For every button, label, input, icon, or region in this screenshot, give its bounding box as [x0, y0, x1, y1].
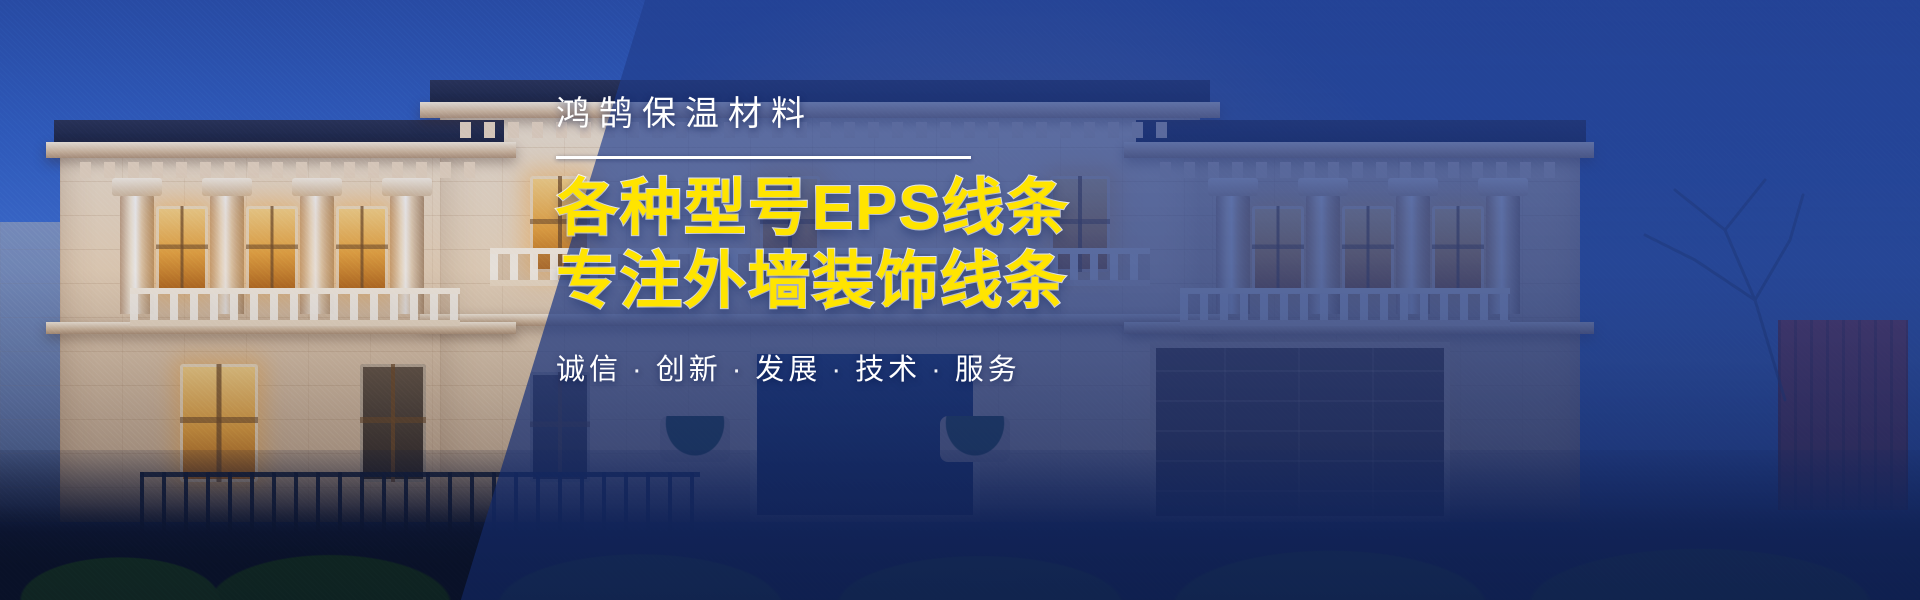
brand-name: 鸿鹄保温材料 [556, 92, 1456, 136]
tagline-separator: · [831, 354, 845, 386]
headline-line-2: 专注外墙装饰线条 [556, 246, 1456, 319]
tagline-item: 诚信 [556, 354, 622, 386]
tagline: 诚信·创新·发展·技术·服务 [556, 346, 1456, 388]
tagline-item: 技术 [855, 354, 921, 386]
hero-banner: 鸿鹄保温材料 各种型号EPS线条 专注外墙装饰线条 诚信·创新·发展·技术·服务 [0, 0, 1920, 600]
tagline-separator: · [632, 354, 646, 386]
headline-line-1: 各种型号EPS线条 [556, 173, 1456, 246]
tagline-separator: · [732, 354, 746, 386]
divider-rule [556, 156, 971, 159]
tagline-item: 发展 [755, 354, 821, 386]
banner-copy: 鸿鹄保温材料 各种型号EPS线条 专注外墙装饰线条 诚信·创新·发展·技术·服务 [556, 92, 1456, 388]
tagline-item: 创新 [656, 354, 722, 386]
tagline-separator: · [931, 354, 945, 386]
tagline-item: 服务 [955, 354, 1021, 386]
